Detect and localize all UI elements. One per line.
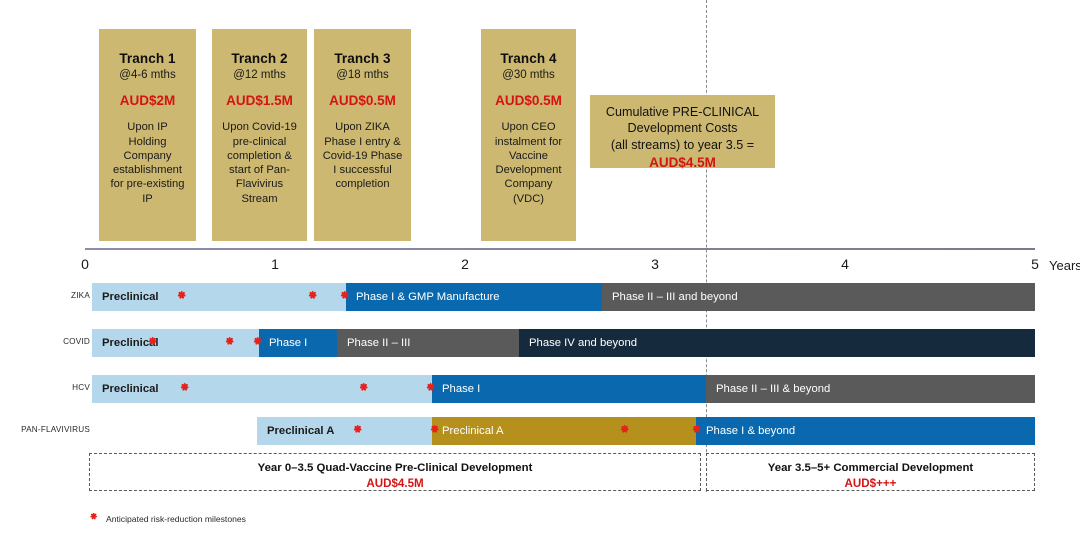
gantt-segment[interactable]: Preclinical bbox=[92, 329, 259, 357]
gantt-segment-label: Phase I bbox=[432, 383, 480, 395]
cumulative-line-2: Development Costs bbox=[596, 120, 769, 136]
gantt-segment[interactable]: Phase I bbox=[259, 329, 337, 357]
gantt-segment-label: Phase I & beyond bbox=[696, 425, 795, 437]
gantt-segment[interactable]: Phase II – III bbox=[337, 329, 519, 357]
summary-title: Year 3.5–5+ Commercial Development bbox=[707, 461, 1034, 476]
row-label-pan-flavivirus: PAN-FLAVIVIRUS bbox=[12, 425, 90, 434]
gantt-segment[interactable]: Phase II – III and beyond bbox=[602, 283, 1035, 311]
row-label-zika: ZIKA bbox=[28, 291, 90, 300]
gantt-segment[interactable]: Phase I & beyond bbox=[696, 417, 1035, 445]
cumulative-line-3: (all streams) to year 3.5 = bbox=[596, 137, 769, 153]
cumulative-line-1: Cumulative PRE-CLINICAL bbox=[596, 104, 769, 120]
legend-label: Anticipated risk-reduction milestones bbox=[106, 514, 246, 524]
row-label-covid: COVID bbox=[28, 337, 90, 346]
gantt-segment-label: Phase IV and beyond bbox=[519, 337, 637, 349]
tranche-card-3: Tranch 3@18 mthsAUD$0.5MUpon ZIKA Phase … bbox=[314, 29, 411, 241]
gantt-segment-label: Preclinical A bbox=[257, 425, 334, 437]
tranche-timing: @4-6 mths bbox=[107, 69, 188, 83]
tranche-title: Tranch 3 bbox=[322, 51, 403, 67]
summary-amount: AUD$4.5M bbox=[90, 476, 700, 492]
axis-tick-4: 4 bbox=[825, 256, 865, 272]
summary-box-1: Year 0–3.5 Quad-Vaccine Pre-Clinical Dev… bbox=[89, 453, 701, 491]
axis-tick-1: 1 bbox=[255, 256, 295, 272]
tranche-card-2: Tranch 2@12 mthsAUD$1.5MUpon Covid-19 pr… bbox=[212, 29, 307, 241]
gantt-segment-label: Phase I & GMP Manufacture bbox=[346, 291, 500, 303]
tranche-amount: AUD$0.5M bbox=[489, 93, 568, 109]
tranche-timing: @12 mths bbox=[220, 69, 299, 83]
timeline-axis bbox=[85, 248, 1035, 250]
tranche-card-1: Tranch 1@4-6 mthsAUD$2MUpon IP Holding C… bbox=[99, 29, 196, 241]
gantt-segment[interactable]: Phase I bbox=[432, 375, 706, 403]
axis-tick-2: 2 bbox=[445, 256, 485, 272]
tranche-description: Upon ZIKA Phase I entry & Covid-19 Phase… bbox=[322, 120, 403, 191]
gantt-segment-label: Phase II – III & beyond bbox=[706, 383, 830, 395]
tranche-amount: AUD$1.5M bbox=[220, 93, 299, 109]
gantt-segment[interactable]: Preclinical A bbox=[257, 417, 432, 445]
milestone-star-icon bbox=[88, 510, 99, 528]
gantt-segment-label: Phase II – III and beyond bbox=[602, 291, 738, 303]
gantt-segment-label: Preclinical A bbox=[432, 425, 504, 437]
summary-title: Year 0–3.5 Quad-Vaccine Pre-Clinical Dev… bbox=[90, 461, 700, 476]
gantt-segment-label: Preclinical bbox=[92, 383, 159, 395]
axis-tick-0: 0 bbox=[65, 256, 105, 272]
tranche-title: Tranch 2 bbox=[220, 51, 299, 67]
gantt-segment-label: Preclinical bbox=[92, 291, 159, 303]
axis-tick-3: 3 bbox=[635, 256, 675, 272]
gantt-segment-label: Phase II – III bbox=[337, 337, 410, 349]
gantt-segment[interactable]: Preclinical bbox=[92, 283, 346, 311]
gantt-segment[interactable]: Preclinical A bbox=[432, 417, 696, 445]
tranche-amount: AUD$2M bbox=[107, 93, 188, 109]
cumulative-amount: AUD$4.5M bbox=[596, 154, 769, 172]
tranche-title: Tranch 1 bbox=[107, 51, 188, 67]
tranche-description: Upon Covid-19 pre-clinical completion & … bbox=[220, 120, 299, 205]
cumulative-preclinical-costs-box: Cumulative PRE-CLINICAL Development Cost… bbox=[590, 95, 775, 168]
tranche-timing: @18 mths bbox=[322, 69, 403, 83]
tranche-title: Tranch 4 bbox=[489, 51, 568, 67]
gantt-segment[interactable]: Phase I & GMP Manufacture bbox=[346, 283, 602, 311]
tranche-amount: AUD$0.5M bbox=[322, 93, 403, 109]
tranche-card-4: Tranch 4@30 mthsAUD$0.5MUpon CEO instalm… bbox=[481, 29, 576, 241]
roadmap-canvas: Tranch 1@4-6 mthsAUD$2MUpon IP Holding C… bbox=[0, 0, 1080, 538]
tranche-description: Upon CEO instalment for Vaccine Developm… bbox=[489, 120, 568, 205]
legend: Anticipated risk-reduction milestones bbox=[88, 510, 246, 528]
gantt-segment[interactable]: Phase II – III & beyond bbox=[706, 375, 1035, 403]
tranche-timing: @30 mths bbox=[489, 69, 568, 83]
axis-units-label: Years bbox=[1049, 258, 1080, 273]
gantt-segment[interactable]: Preclinical bbox=[92, 375, 432, 403]
summary-amount: AUD$+++ bbox=[707, 476, 1034, 492]
tranche-description: Upon IP Holding Company establishment fo… bbox=[107, 120, 188, 205]
gantt-segment[interactable]: Phase IV and beyond bbox=[519, 329, 1035, 357]
summary-box-2: Year 3.5–5+ Commercial DevelopmentAUD$++… bbox=[706, 453, 1035, 491]
gantt-segment-label: Phase I bbox=[259, 337, 307, 349]
row-label-hcv: HCV bbox=[28, 383, 90, 392]
gantt-segment-label: Preclinical bbox=[92, 337, 159, 349]
